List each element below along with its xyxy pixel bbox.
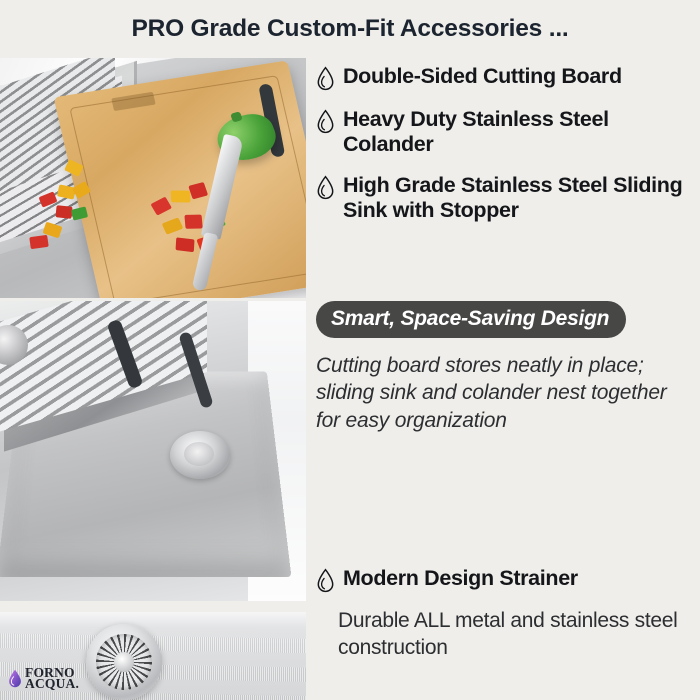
infographic-page: PRO Grade Custom-Fit Accessories ...: [0, 0, 700, 700]
logo-line-acqua: ACQUA.: [25, 678, 79, 690]
strainer-hub: [114, 652, 134, 672]
water-drop-icon: [316, 109, 335, 134]
brand-logo: FORNO ACQUA.: [8, 667, 79, 690]
list-item-label: Double-Sided Cutting Board: [343, 64, 622, 89]
water-drop-icon: [316, 66, 335, 91]
cutting-board: [54, 60, 306, 298]
content-column: Double-Sided Cutting Board Heavy Duty St…: [316, 58, 694, 700]
basin-drain: [170, 431, 230, 479]
drain-strainer: [86, 624, 162, 700]
diced-pepper: [176, 237, 195, 252]
strainer-description: Durable ALL metal and stainless steel co…: [338, 607, 688, 662]
diced-pepper-in-colander: [55, 205, 72, 219]
diced-pepper-in-colander: [29, 235, 48, 249]
empty-sink-basin-photo: [0, 301, 306, 601]
list-item: High Grade Stainless Steel Sliding Sink …: [316, 173, 694, 223]
list-item-label: High Grade Stainless Steel Sliding Sink …: [343, 173, 694, 223]
list-item-label: Heavy Duty Stainless Steel Colander: [343, 107, 694, 157]
diced-pepper: [171, 190, 191, 202]
logo-wordmark: FORNO ACQUA.: [25, 667, 79, 690]
strainer-title: Modern Design Strainer: [343, 566, 578, 591]
feature-list: Double-Sided Cutting Board Heavy Duty St…: [316, 64, 694, 239]
photo-column: FORNO ACQUA.: [0, 58, 306, 700]
water-drop-icon: [316, 568, 335, 593]
water-drop-logo-icon: [8, 669, 22, 688]
strainer-closeup-photo: FORNO ACQUA.: [0, 612, 306, 700]
header: PRO Grade Custom-Fit Accessories ...: [0, 0, 700, 58]
strainer-heading: Modern Design Strainer: [316, 566, 694, 593]
status-badge: Smart, Space-Saving Design: [316, 301, 626, 338]
sink-with-cutting-board-photo: [0, 58, 306, 298]
design-block: Smart, Space-Saving Design Cutting board…: [316, 301, 694, 434]
diced-pepper: [184, 215, 202, 229]
page-title: PRO Grade Custom-Fit Accessories ...: [131, 15, 568, 43]
list-item: Heavy Duty Stainless Steel Colander: [316, 107, 694, 157]
sink-wall-edge: [0, 612, 306, 628]
design-description: Cutting board stores neatly in place; sl…: [316, 352, 668, 434]
strainer-block: Modern Design Strainer Durable ALL metal…: [316, 566, 694, 662]
list-item: Double-Sided Cutting Board: [316, 64, 694, 91]
water-drop-icon: [316, 175, 335, 200]
